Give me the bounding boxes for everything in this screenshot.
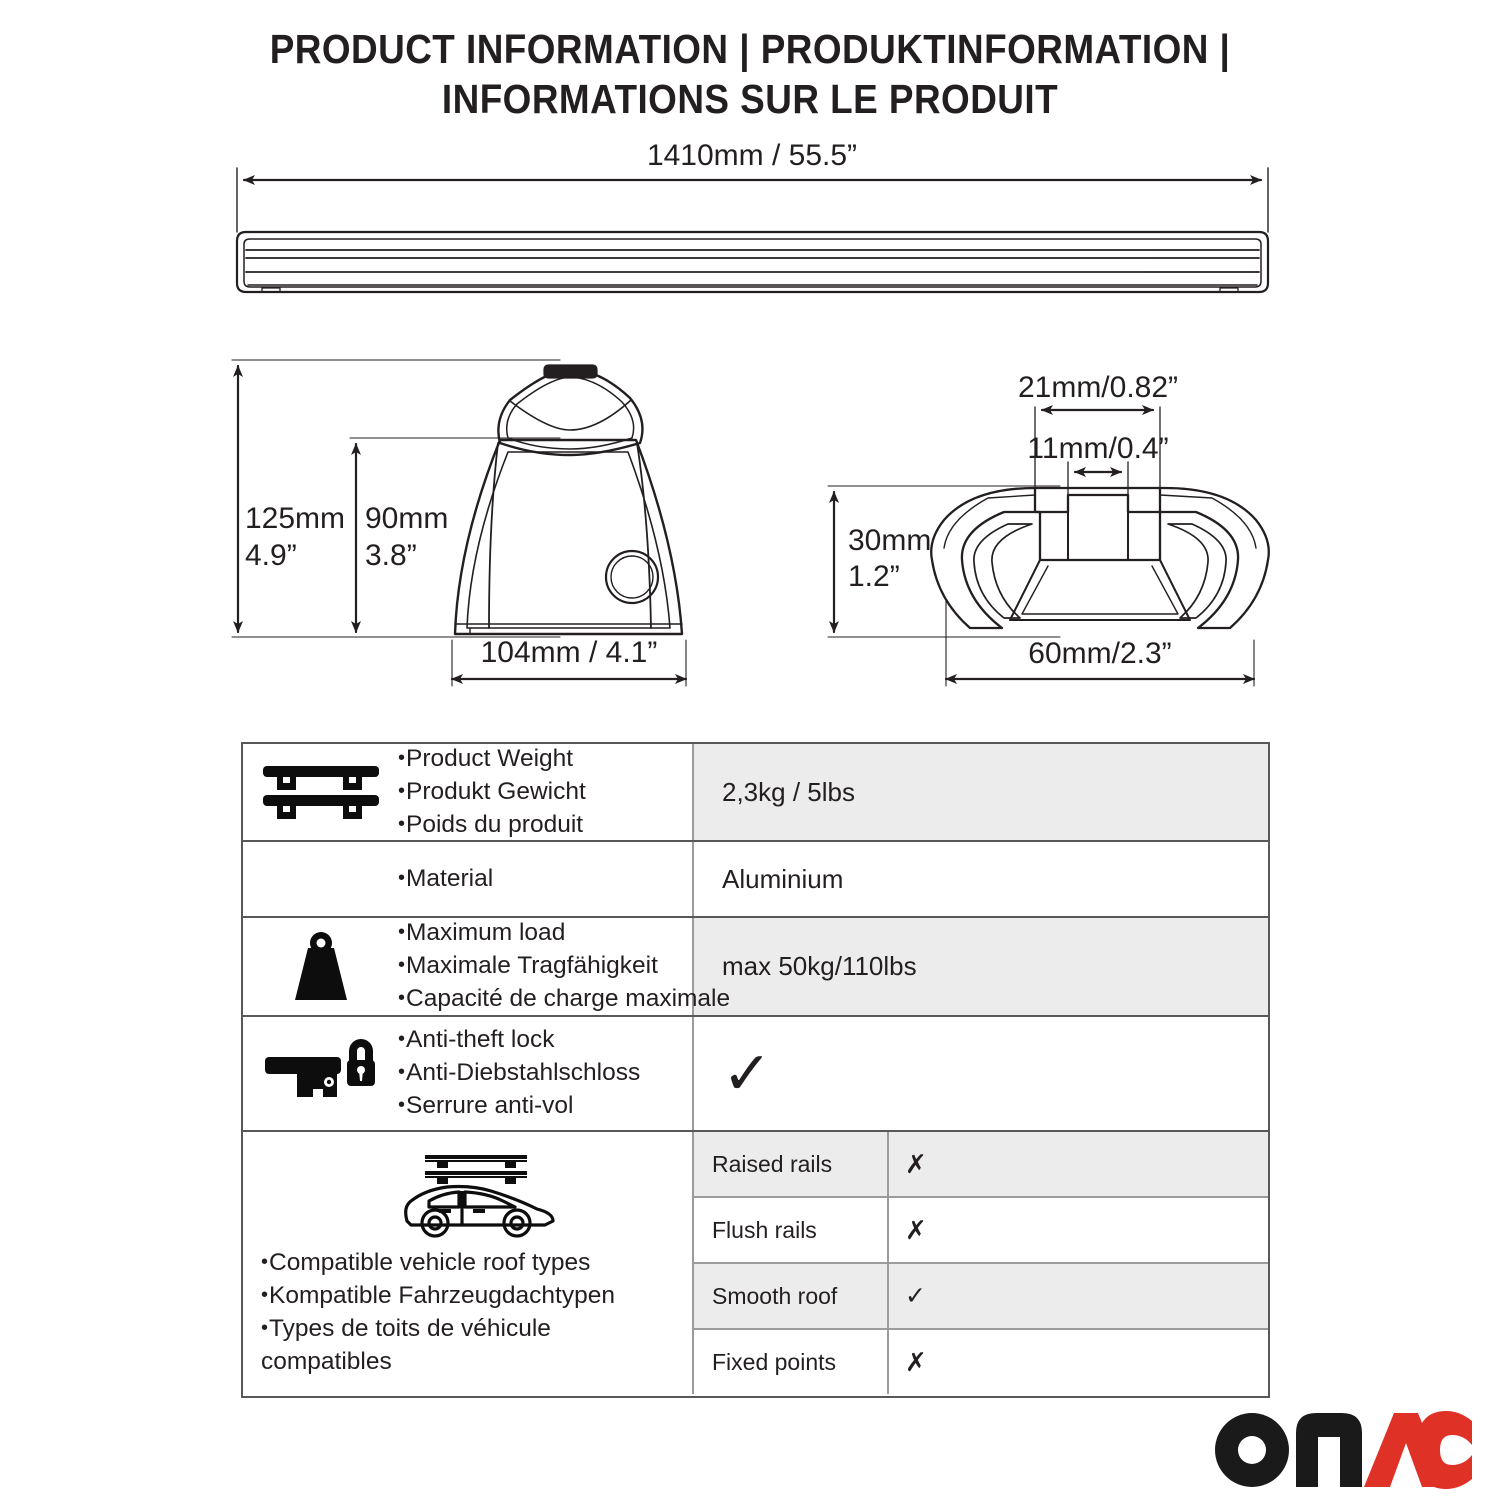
car-roofbars-glyph	[395, 1149, 559, 1241]
dim-profile-height-mm: 30mm	[848, 524, 931, 557]
title-line-1: PRODUCT INFORMATION | PRODUKTINFORMATION…	[75, 24, 1425, 74]
roof-type-value: ✗	[889, 1198, 1268, 1262]
lock-bar-icon	[243, 1039, 398, 1109]
label-line: Anti-theft lock	[398, 1024, 640, 1057]
omac-logo-glyph	[1214, 1411, 1472, 1489]
roof-type-row: Flush rails ✗	[694, 1198, 1268, 1264]
car-with-roofbars-icon	[261, 1149, 692, 1241]
row-labels: Product Weight Produkt Gewicht Poids du …	[398, 743, 586, 842]
row-value: 2,3kg / 5lbs	[694, 744, 1268, 840]
dim-foot-height-in: 4.9”	[245, 539, 297, 572]
weight-icon	[243, 930, 398, 1004]
roof-types-subtable: Raised rails ✗ Flush rails ✗ Smooth roof…	[694, 1132, 1268, 1394]
title-line-2: INFORMATIONS SUR LE PRODUIT	[75, 74, 1425, 124]
table-row: Product Weight Produkt Gewicht Poids du …	[243, 744, 1268, 842]
row-value: max 50kg/110lbs	[694, 918, 1268, 1015]
label-line: Serrure anti-vol	[398, 1090, 640, 1123]
lock-bar-glyph	[261, 1039, 381, 1109]
table-row: Maximum load Maximale Tragfähigkeit Capa…	[243, 918, 1268, 1017]
label-line: Maximum load	[398, 917, 730, 950]
row-labels: Material	[398, 863, 493, 896]
roof-type-value: ✗	[889, 1132, 1268, 1196]
dim-foot-height-mm: 125mm	[245, 502, 345, 535]
label-line: Material	[398, 863, 493, 896]
table-row: Material Aluminium	[243, 842, 1268, 918]
page-title: PRODUCT INFORMATION | PRODUKTINFORMATION…	[0, 24, 1500, 124]
roof-type-name: Smooth roof	[694, 1264, 889, 1328]
label-line: Compatible vehicle roof types	[261, 1247, 661, 1280]
two-crossbars-glyph	[259, 761, 383, 823]
label-line: Kompatible Fahrzeugdachtypen	[261, 1280, 661, 1313]
dim-foot-inner-mm: 90mm	[365, 502, 448, 535]
label-line: Produkt Gewicht	[398, 776, 586, 809]
row-label-cell: Maximum load Maximale Tragfähigkeit Capa…	[243, 918, 694, 1015]
dim-slot-outer: 21mm/0.82”	[1018, 371, 1178, 404]
roof-type-row: Raised rails ✗	[694, 1132, 1268, 1198]
dim-slot-inner: 11mm/0.4”	[1027, 432, 1168, 465]
roof-type-value: ✓	[889, 1264, 1268, 1328]
dim-profile-height-in: 1.2”	[848, 560, 900, 593]
two-crossbars-icon	[243, 761, 398, 823]
dim-bar-length: 1410mm / 55.5”	[647, 139, 857, 172]
roof-type-row: Smooth roof ✓	[694, 1264, 1268, 1330]
spec-table: Product Weight Produkt Gewicht Poids du …	[241, 742, 1270, 1398]
label-line: Product Weight	[398, 743, 586, 776]
product-information-sheet: PRODUCT INFORMATION | PRODUKTINFORMATION…	[0, 0, 1500, 1500]
row-label-cell: Anti-theft lock Anti-Diebstahlschloss Se…	[243, 1017, 694, 1130]
compat-labels: Compatible vehicle roof types Kompatible…	[261, 1247, 661, 1377]
row-labels: Anti-theft lock Anti-Diebstahlschloss Se…	[398, 1024, 640, 1123]
label-line: Maximale Tragfähigkeit	[398, 950, 730, 983]
label-line: Capacité de charge maximale	[398, 983, 730, 1016]
logo-letter-m	[1296, 1413, 1362, 1487]
label-line: Anti-Diebstahlschloss	[398, 1057, 640, 1090]
roof-type-name: Raised rails	[694, 1132, 889, 1196]
omac-logo	[1214, 1413, 1472, 1487]
compat-label-cell: Compatible vehicle roof types Kompatible…	[243, 1132, 694, 1394]
roof-type-name: Fixed points	[694, 1330, 889, 1394]
label-line: Types de toits de véhicule compatibles	[261, 1313, 661, 1377]
row-labels: Maximum load Maximale Tragfähigkeit Capa…	[398, 917, 730, 1016]
weight-glyph	[281, 930, 361, 1004]
check-icon: ✓	[722, 1044, 772, 1104]
roof-type-value: ✗	[889, 1330, 1268, 1394]
roof-type-row: Fixed points ✗	[694, 1330, 1268, 1394]
label-line: Poids du produit	[398, 809, 586, 842]
row-value-check: ✓	[694, 1017, 1268, 1130]
roof-type-name: Flush rails	[694, 1198, 889, 1262]
table-row: Anti-theft lock Anti-Diebstahlschloss Se…	[243, 1017, 1268, 1132]
dim-foot-width: 104mm / 4.1”	[481, 636, 658, 669]
row-label-cell: Material	[243, 842, 694, 916]
dim-foot-inner-in: 3.8”	[365, 539, 417, 572]
logo-letter-c	[1416, 1411, 1472, 1489]
row-value: Aluminium	[694, 842, 1268, 916]
row-label-cell: Product Weight Produkt Gewicht Poids du …	[243, 744, 694, 840]
dim-profile-width: 60mm/2.3”	[1028, 637, 1171, 670]
table-row-compat: Compatible vehicle roof types Kompatible…	[243, 1132, 1268, 1394]
